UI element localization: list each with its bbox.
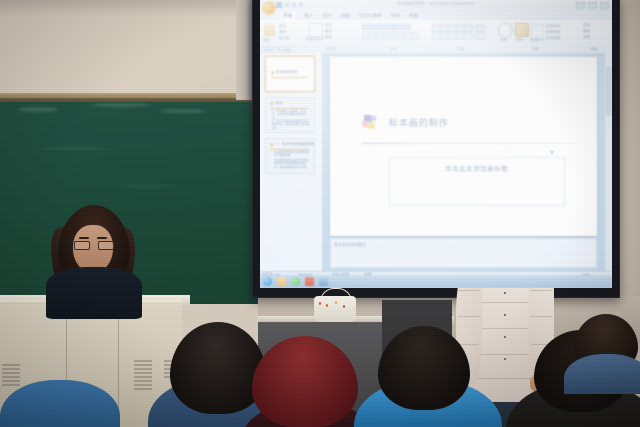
redo-icon[interactable] — [292, 3, 296, 7]
browser-icon[interactable] — [263, 277, 272, 286]
windows-taskbar[interactable] — [260, 275, 612, 288]
ribbon-group-label-editing: 编辑 — [578, 47, 610, 52]
eyeglasses-icon — [74, 241, 112, 248]
ribbon-group-editing: 查找 替换 选择 编辑 — [578, 21, 610, 47]
pane-tab-strip[interactable]: 幻灯片 大纲 — [260, 46, 293, 53]
quick-access-toolbar[interactable] — [276, 2, 303, 8]
quick-styles-icon[interactable] — [531, 24, 544, 37]
ribbon[interactable]: 粘贴 剪切 复制 格式刷 剪贴板 新建幻灯片 版式 重设 删除 幻灯片 — [260, 20, 612, 54]
slide-thumbnail-pane[interactable]: 幻灯片 大纲 标本画的制作 目的 1、学习制作一幅完整、不变 — [260, 53, 323, 272]
pane-tab-slides[interactable]: 幻灯片 — [261, 46, 278, 53]
ribbon-group-slides: 新建幻灯片 版式 重设 删除 幻灯片 — [306, 21, 356, 47]
thumbnail-3-line-1: 标本是指生物体经过处理后保存下来的实物。 — [274, 151, 310, 158]
notes-pane[interactable]: 单击此处添加备注 — [330, 238, 597, 268]
student-blue-jacket — [372, 326, 484, 427]
tab-slideshow[interactable]: 幻灯片放映 — [359, 13, 382, 19]
shape-fill-label[interactable]: 形状填充 — [546, 24, 560, 29]
thumbnail-2-title: 目的 — [275, 101, 282, 106]
tab-review[interactable]: 审阅 — [391, 13, 400, 19]
shoulders — [564, 354, 640, 394]
folder-icon[interactable] — [277, 277, 286, 286]
thumbnail-3-line-2: 标本画则是用绘画的形式将标本的形态结构准确地表现出来，更具有概括性和艺术性。 — [274, 159, 310, 169]
reset-label[interactable]: 重设 — [325, 29, 332, 34]
thumbnail-slide-3[interactable]: 一、标本与标本画的区别 标本是指生物体经过处理后保存下来的实物。 标本画则是用绘… — [265, 138, 315, 174]
tab-design[interactable]: 设计 — [322, 13, 331, 19]
document-icon[interactable] — [319, 277, 328, 286]
ribbon-tabs[interactable]: 开始 插入 设计 动画 幻灯片放映 审阅 视图 — [260, 11, 612, 20]
shapes-label[interactable]: 形状 — [500, 38, 507, 43]
shape-outline-label[interactable]: 形状轮廓 — [546, 30, 560, 35]
current-slide[interactable]: 标本画的制作 单击此处添加副标题 — [330, 57, 597, 236]
cut-label[interactable]: 剪切 — [279, 24, 286, 29]
thumbnail-2-line-1: 1、学习制作一幅完整、不变形、有色泽的植物标本画的方法。 — [272, 110, 310, 120]
save-icon[interactable] — [276, 2, 282, 8]
replace-label[interactable]: 替换 — [583, 29, 590, 34]
powerpoint-icon[interactable] — [305, 277, 314, 286]
tab-home[interactable]: 开始 — [280, 12, 295, 20]
slide-title-rule — [362, 143, 576, 144]
shoulders — [0, 380, 120, 427]
arrange-icon[interactable] — [515, 23, 529, 37]
select-label[interactable]: 选择 — [583, 35, 590, 40]
paste-label[interactable]: 粘贴 — [263, 38, 270, 43]
shape-effects-label[interactable]: 形状效果 — [546, 36, 560, 41]
chalk-rail-shadow — [0, 98, 262, 102]
ribbon-group-label-font: 字体 — [360, 47, 426, 52]
ppt-workspace: 幻灯片 大纲 标本画的制作 目的 1、学习制作一幅完整、不变 — [260, 53, 612, 272]
layout-label[interactable]: 版式 — [325, 23, 332, 28]
line-spacing-button[interactable] — [464, 24, 473, 32]
minimize-icon[interactable] — [576, 2, 585, 9]
woman-at-lectern — [40, 205, 150, 315]
ribbon-group-label-drawing: 绘图 — [496, 47, 574, 52]
ribbon-group-clipboard: 粘贴 剪切 复制 格式刷 剪贴板 — [262, 21, 304, 47]
vertical-scrollbar[interactable] — [604, 53, 612, 272]
convert-smartart-button[interactable] — [475, 32, 485, 40]
font-size-box[interactable] — [394, 24, 410, 30]
format-painter-label[interactable]: 格式刷 — [279, 36, 290, 41]
undo-icon[interactable] — [285, 3, 289, 7]
projection-screen[interactable]: 标本画的制作 - Microsoft PowerPoint 开始 — [260, 0, 612, 288]
head — [378, 326, 470, 410]
dark-top — [46, 267, 142, 319]
ribbon-group-paragraph: 段落 — [430, 21, 492, 47]
font-name-box[interactable] — [362, 24, 394, 30]
thumbnail-3-title: 一、标本与标本画的区别 — [275, 142, 315, 147]
font-color-button[interactable] — [411, 32, 419, 40]
bullet-icon — [270, 143, 273, 146]
thumbnail-1-title: 标本画的制作 — [276, 70, 298, 75]
tab-insert[interactable]: 插入 — [304, 13, 313, 19]
thumbnail-2-line-2: 2、通过实践加深对植物形态结构的认识，提高动手能力和审美能力。 — [272, 120, 310, 130]
tab-view[interactable]: 视图 — [409, 13, 418, 19]
text-direction-button[interactable] — [475, 24, 485, 32]
new-slide-icon[interactable] — [309, 23, 323, 37]
bullet-icon — [271, 71, 274, 74]
pane-tab-outline[interactable]: 大纲 — [280, 46, 293, 53]
ribbon-group-label-slides: 幻灯片 — [306, 47, 356, 52]
find-label[interactable]: 查找 — [583, 23, 590, 28]
close-icon[interactable] — [600, 2, 609, 9]
thumbnail-slide-1[interactable]: 标本画的制作 — [265, 56, 315, 92]
shapes-icon[interactable] — [498, 23, 513, 38]
paste-icon[interactable] — [264, 23, 275, 36]
head — [252, 336, 358, 427]
tab-animations[interactable]: 动画 — [341, 13, 350, 19]
messenger-icon[interactable] — [291, 277, 300, 286]
student-red-hair — [248, 336, 366, 427]
scrollbar-thumb[interactable] — [606, 67, 611, 115]
white-handbag — [314, 296, 356, 322]
delete-label[interactable]: 删除 — [325, 35, 332, 40]
window-controls[interactable] — [576, 2, 609, 9]
bullet-icon — [270, 102, 273, 105]
ribbon-group-drawing: 形状 排列 快速样式 形状填充 形状轮廓 形状效果 绘图 — [496, 21, 574, 47]
titlebar: 标本画的制作 - Microsoft PowerPoint — [260, 0, 612, 11]
slide-decoration-icon — [362, 114, 378, 130]
classroom-photo: 标本画的制作 - Microsoft PowerPoint 开始 — [0, 0, 640, 427]
notes-placeholder-text: 单击此处添加备注 — [334, 242, 366, 248]
slide-title[interactable]: 标本画的制作 — [389, 116, 449, 129]
new-slide-label[interactable]: 新建幻灯片 — [306, 37, 324, 42]
thumbnail-slide-2[interactable]: 目的 1、学习制作一幅完整、不变形、有色泽的植物标本画的方法。 2、通过实践加深… — [265, 97, 315, 133]
copy-label[interactable]: 复制 — [279, 30, 286, 35]
window-title: 标本画的制作 - Microsoft PowerPoint — [260, 1, 612, 7]
slide-subtitle-text: 单击此处添加副标题 — [390, 164, 564, 173]
customize-icon[interactable] — [299, 3, 303, 7]
slide-subtitle-placeholder[interactable]: 单击此处添加副标题 — [389, 157, 565, 206]
student-far-right — [568, 300, 640, 370]
quick-styles-label[interactable]: 快速样式 — [530, 38, 544, 43]
columns-button[interactable] — [464, 32, 473, 40]
powerpoint-window[interactable]: 标本画的制作 - Microsoft PowerPoint 开始 — [260, 0, 612, 288]
slide-editor[interactable]: 标本画的制作 单击此处添加副标题 单击此处添加备注 — [322, 53, 605, 272]
ribbon-group-label-paragraph: 段落 — [430, 47, 492, 52]
mouse-cursor-icon — [551, 150, 555, 155]
student-bottom-left — [0, 372, 110, 427]
ribbon-group-font: 字体 — [360, 21, 426, 47]
maximize-icon[interactable] — [588, 2, 597, 9]
arrange-label[interactable]: 排列 — [516, 38, 523, 43]
office-orb-icon[interactable] — [262, 1, 276, 15]
